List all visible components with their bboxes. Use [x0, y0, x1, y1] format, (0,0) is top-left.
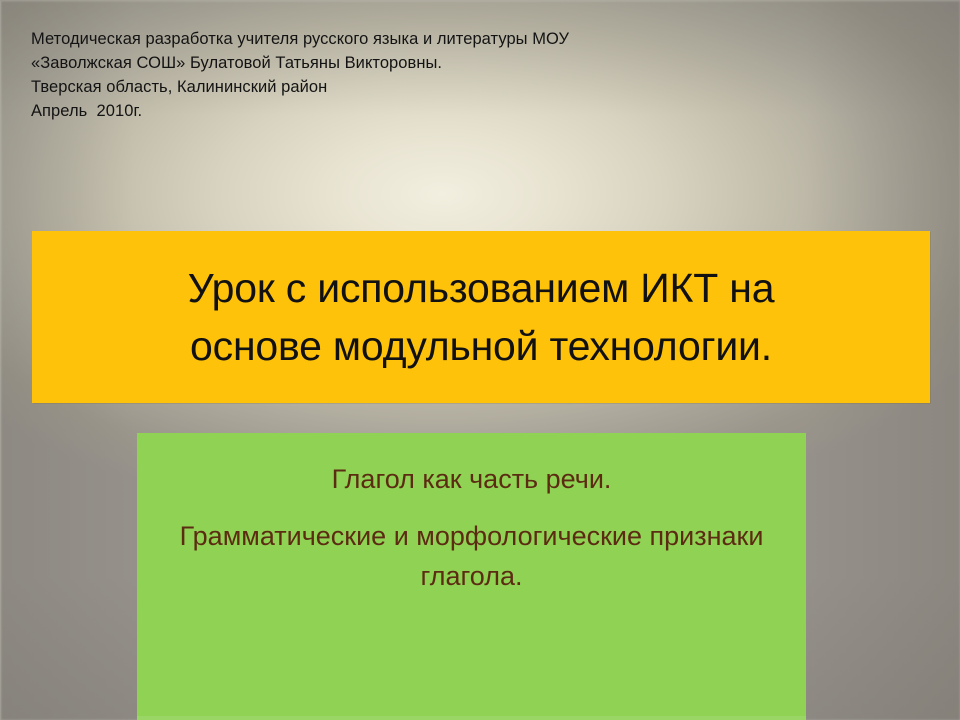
credit-line-1: Методическая разработка учителя русского…: [31, 27, 891, 51]
subtitle-paragraph: Грамматические и морфологические признак…: [171, 516, 772, 596]
slide-subtitle-card: Глагол как часть речи. Грамматические и …: [137, 433, 806, 720]
author-credit-block: Методическая разработка учителя русского…: [31, 27, 891, 123]
credit-line-2: «Заволжская СОШ» Булатовой Татьяны Викто…: [31, 51, 891, 75]
slide-title-line-1: Урок с использованием ИКТ на: [188, 259, 775, 317]
credit-line-4-date: Апрель 2010г.: [31, 99, 891, 123]
presentation-slide: Методическая разработка учителя русского…: [0, 0, 960, 720]
subtitle-heading: Глагол как часть речи.: [171, 457, 772, 502]
slide-title-line-2: основе модульной технологии.: [190, 317, 772, 375]
credit-line-3: Тверская область, Калининский район: [31, 75, 891, 99]
slide-title-card: Урок с использованием ИКТ на основе моду…: [32, 231, 930, 403]
